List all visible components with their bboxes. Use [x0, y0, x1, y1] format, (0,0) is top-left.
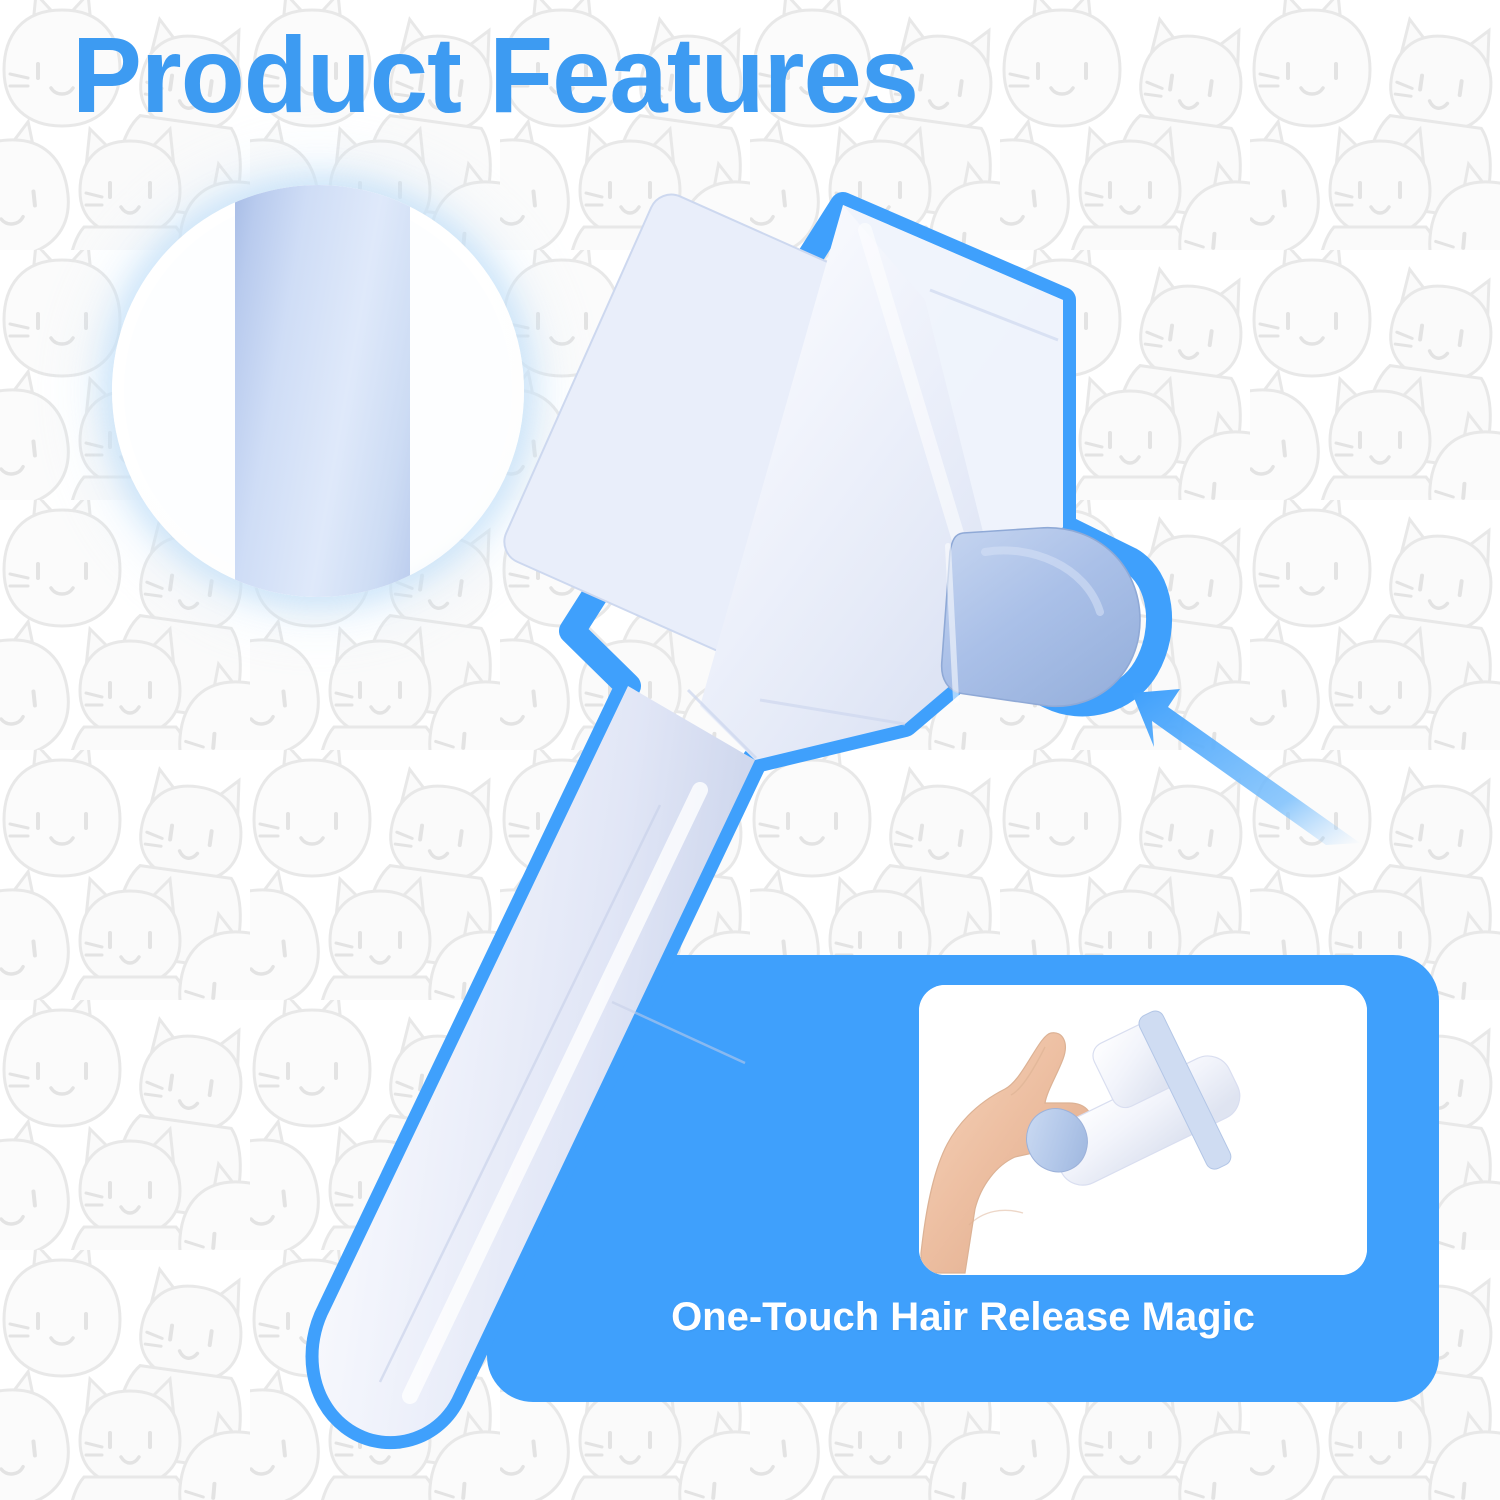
- hand-holding-brush-photo: [919, 985, 1367, 1275]
- one-touch-panel: One-Touch Hair Release Magic: [487, 955, 1439, 1402]
- page-title: Product Features: [72, 18, 918, 131]
- pointer-arrow: [1110, 655, 1370, 845]
- comb-teeth-closeup-inset: [112, 185, 524, 597]
- panel-caption: One-Touch Hair Release Magic: [487, 1295, 1439, 1340]
- inset-steel-pins: [242, 185, 524, 597]
- product-features-infographic: Product Features: [0, 0, 1500, 1500]
